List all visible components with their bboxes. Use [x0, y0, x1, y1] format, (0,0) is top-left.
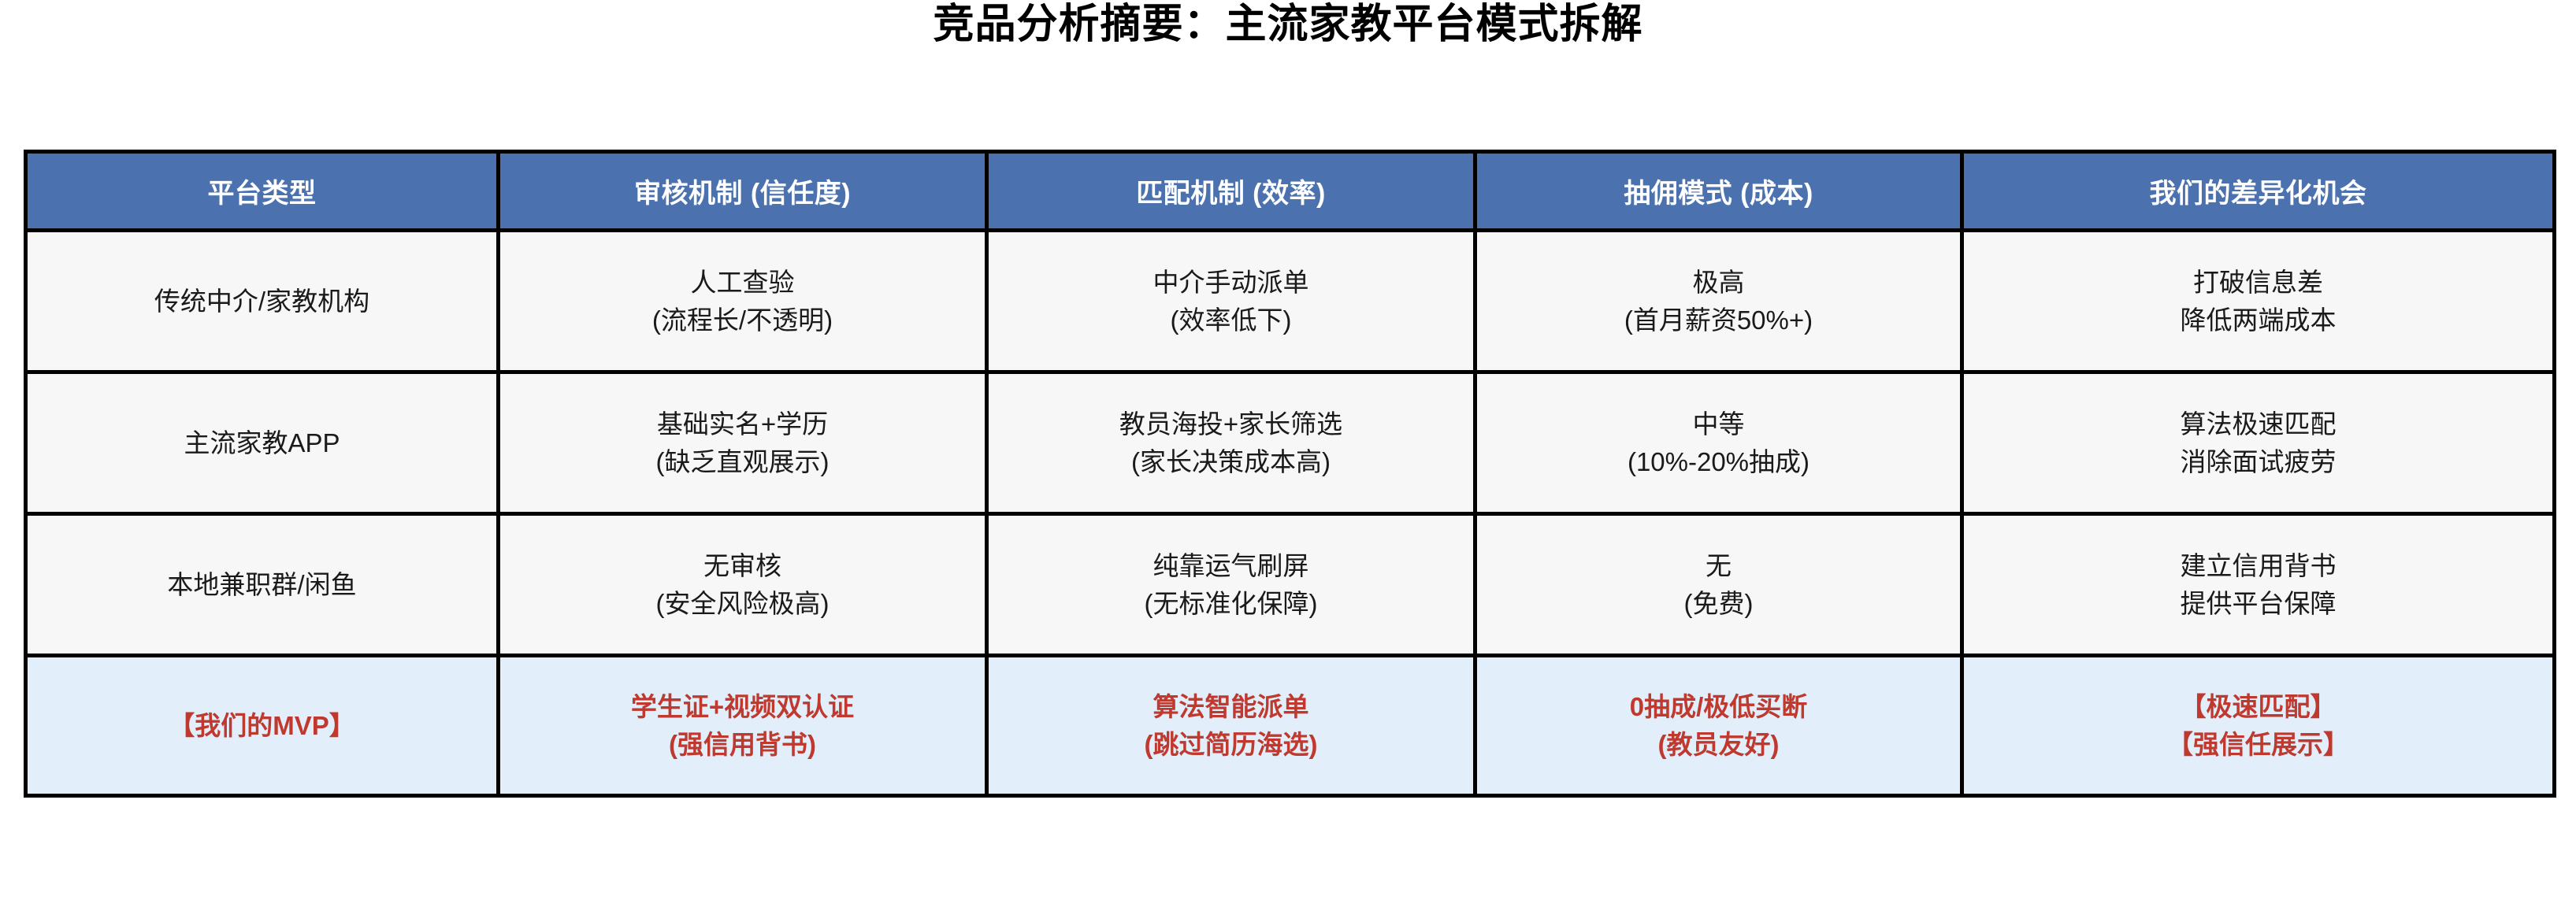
- table-cell: 学生证+视频双认证(强信用背书): [499, 656, 987, 796]
- cell-line-primary: 算法极速匹配: [1972, 405, 2544, 443]
- cell-line-secondary: 消除面试疲劳: [1972, 443, 2544, 481]
- table-cell: 0抽成/极低买断(教员友好): [1475, 656, 1962, 796]
- table-cell: 【我们的MVP】: [26, 656, 499, 796]
- cell-line-primary: 主流家教APP: [35, 424, 488, 462]
- cell-line-secondary: (缺乏直观展示): [508, 443, 977, 481]
- table-cell: 极高(首月薪资50%+): [1475, 231, 1962, 372]
- cell-line-secondary: (免费): [1485, 585, 1952, 623]
- table-cell: 打破信息差降低两端成本: [1962, 231, 2555, 372]
- page-root: 竞品分析摘要：主流家教平台模式拆解 平台类型 审核机制 (信任度) 匹配机制 (…: [0, 0, 2576, 922]
- column-header-differentiation-opportunity: 我们的差异化机会: [1962, 152, 2555, 231]
- cell-line-primary: 中介手动派单: [997, 264, 1465, 302]
- column-header-commission-model: 抽佣模式 (成本): [1475, 152, 1962, 231]
- table-row-highlighted: 【我们的MVP】学生证+视频双认证(强信用背书)算法智能派单(跳过简历海选)0抽…: [26, 656, 2555, 796]
- table-row: 本地兼职群/闲鱼无审核(安全风险极高)纯靠运气刷屏(无标准化保障)无(免费)建立…: [26, 514, 2555, 656]
- table-cell: 传统中介/家教机构: [26, 231, 499, 372]
- cell-line-primary: 极高: [1485, 264, 1952, 302]
- cell-line-secondary: 降低两端成本: [1972, 302, 2544, 339]
- column-header-matching-mechanism: 匹配机制 (效率): [987, 152, 1475, 231]
- table-cell: 本地兼职群/闲鱼: [26, 514, 499, 656]
- cell-line-primary: 本地兼职群/闲鱼: [35, 566, 488, 604]
- cell-line-secondary: (安全风险极高): [508, 585, 977, 623]
- cell-line-secondary: (家长决策成本高): [997, 443, 1465, 481]
- table-cell: 建立信用背书提供平台保障: [1962, 514, 2555, 656]
- cell-line-primary: 人工查验: [508, 264, 977, 302]
- cell-line-primary: 【我们的MVP】: [35, 707, 488, 745]
- table-cell: 中等(10%-20%抽成): [1475, 372, 1962, 514]
- cell-line-primary: 【极速匹配】: [1972, 688, 2544, 726]
- table-header-row: 平台类型 审核机制 (信任度) 匹配机制 (效率) 抽佣模式 (成本) 我们的差…: [26, 152, 2555, 231]
- cell-line-secondary: (效率低下): [997, 302, 1465, 339]
- cell-line-primary: 中等: [1485, 405, 1952, 443]
- cell-line-secondary: (教员友好): [1485, 726, 1952, 764]
- cell-line-primary: 传统中介/家教机构: [35, 283, 488, 320]
- table-cell: 主流家教APP: [26, 372, 499, 514]
- table-row: 主流家教APP基础实名+学历(缺乏直观展示)教员海投+家长筛选(家长决策成本高)…: [26, 372, 2555, 514]
- cell-line-primary: 教员海投+家长筛选: [997, 405, 1465, 443]
- table-cell: 人工查验(流程长/不透明): [499, 231, 987, 372]
- cell-line-secondary: 【强信任展示】: [1972, 726, 2544, 764]
- cell-line-secondary: 提供平台保障: [1972, 585, 2544, 623]
- cell-line-primary: 0抽成/极低买断: [1485, 688, 1952, 726]
- cell-line-primary: 算法智能派单: [997, 688, 1465, 726]
- cell-line-primary: 无审核: [508, 547, 977, 585]
- table-row: 传统中介/家教机构人工查验(流程长/不透明)中介手动派单(效率低下)极高(首月薪…: [26, 231, 2555, 372]
- table-cell: 算法智能派单(跳过简历海选): [987, 656, 1475, 796]
- cell-line-secondary: (无标准化保障): [997, 585, 1465, 623]
- table-cell: 基础实名+学历(缺乏直观展示): [499, 372, 987, 514]
- cell-line-secondary: (跳过简历海选): [997, 726, 1465, 764]
- cell-line-secondary: (强信用背书): [508, 726, 977, 764]
- cell-line-primary: 无: [1485, 547, 1952, 585]
- competitor-analysis-table: 平台类型 审核机制 (信任度) 匹配机制 (效率) 抽佣模式 (成本) 我们的差…: [24, 150, 2556, 798]
- table-cell: 中介手动派单(效率低下): [987, 231, 1475, 372]
- table-cell: 无审核(安全风险极高): [499, 514, 987, 656]
- cell-line-primary: 打破信息差: [1972, 264, 2544, 302]
- page-title: 竞品分析摘要：主流家教平台模式拆解: [0, 0, 2576, 49]
- table-body: 传统中介/家教机构人工查验(流程长/不透明)中介手动派单(效率低下)极高(首月薪…: [26, 231, 2555, 796]
- column-header-platform-type: 平台类型: [26, 152, 499, 231]
- cell-line-primary: 基础实名+学历: [508, 405, 977, 443]
- table-cell: 【极速匹配】【强信任展示】: [1962, 656, 2555, 796]
- table-header: 平台类型 审核机制 (信任度) 匹配机制 (效率) 抽佣模式 (成本) 我们的差…: [26, 152, 2555, 231]
- cell-line-primary: 学生证+视频双认证: [508, 688, 977, 726]
- cell-line-secondary: (首月薪资50%+): [1485, 302, 1952, 339]
- table-cell: 纯靠运气刷屏(无标准化保障): [987, 514, 1475, 656]
- table-cell: 教员海投+家长筛选(家长决策成本高): [987, 372, 1475, 514]
- table-cell: 算法极速匹配消除面试疲劳: [1962, 372, 2555, 514]
- cell-line-primary: 纯靠运气刷屏: [997, 547, 1465, 585]
- cell-line-secondary: (10%-20%抽成): [1485, 443, 1952, 481]
- cell-line-secondary: (流程长/不透明): [508, 302, 977, 339]
- comparison-table-container: 平台类型 审核机制 (信任度) 匹配机制 (效率) 抽佣模式 (成本) 我们的差…: [24, 150, 2552, 798]
- cell-line-primary: 建立信用背书: [1972, 547, 2544, 585]
- table-cell: 无(免费): [1475, 514, 1962, 656]
- column-header-review-mechanism: 审核机制 (信任度): [499, 152, 987, 231]
